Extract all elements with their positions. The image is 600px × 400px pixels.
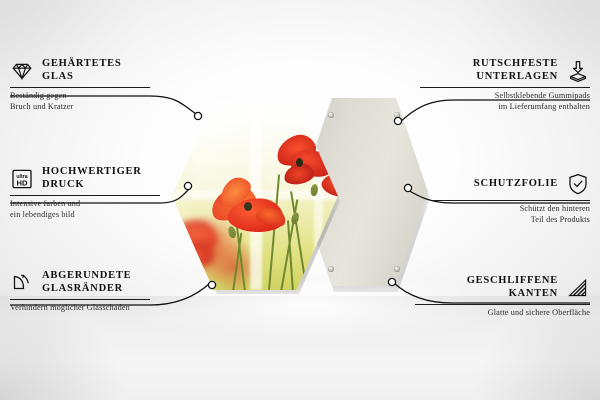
press-down-pad-icon	[566, 59, 590, 83]
rounded-corner-icon	[10, 271, 34, 295]
feature-subtitle: Beständig gegen Bruch und Kratzer	[10, 91, 170, 112]
svg-text:HD: HD	[17, 178, 28, 187]
feature-protective-film[interactable]: SCHUTZFOLIE Schützt den hinteren Teil de…	[410, 172, 590, 225]
feature-title: GESCHLIFFENE KANTEN	[467, 275, 558, 300]
feature-rule	[10, 87, 150, 88]
feature-rounded-glass-edges[interactable]: ABGERUNDETE GLASRÄNDER Verhindern möglic…	[10, 270, 185, 314]
feature-rule	[420, 87, 590, 88]
hatched-triangle-icon	[566, 276, 590, 300]
feature-title: ABGERUNDETE GLASRÄNDER	[42, 270, 131, 295]
feature-title: SCHUTZFOLIE	[474, 178, 558, 191]
feature-rule	[415, 304, 590, 305]
feature-header: GEHÄRTETES GLAS	[10, 58, 170, 83]
feature-header: ABGERUNDETE GLASRÄNDER	[10, 270, 185, 295]
feature-rule	[430, 200, 590, 201]
feature-title: GEHÄRTETES GLAS	[42, 58, 122, 83]
feature-header: SCHUTZFOLIE	[410, 172, 590, 196]
feature-rule	[10, 299, 150, 300]
shield-check-icon	[566, 172, 590, 196]
screw-hole	[394, 112, 400, 118]
feature-title: HOCHWERTIGER DRUCK	[42, 166, 142, 191]
product-infographic: GEHÄRTETES GLAS Beständig gegen Bruch un…	[0, 0, 600, 400]
feature-high-quality-print[interactable]: ultra HD HOCHWERTIGER DRUCK Intensive fa…	[10, 166, 180, 220]
feature-header: ultra HD HOCHWERTIGER DRUCK	[10, 166, 180, 191]
feature-tempered-glass[interactable]: GEHÄRTETES GLAS Beständig gegen Bruch un…	[10, 58, 170, 112]
connector-dot-tempered-glass	[194, 112, 201, 119]
screw-hole	[328, 266, 334, 272]
screw-hole	[394, 266, 400, 272]
feature-header: RUTSCHFESTE UNTERLAGEN	[400, 58, 590, 83]
feature-subtitle: Glatte und sichere Oberfläche	[395, 308, 590, 319]
ultra-hd-icon: ultra HD	[10, 167, 34, 191]
feature-non-slip-pads[interactable]: RUTSCHFESTE UNTERLAGEN Selbstklebende Gu…	[400, 58, 590, 112]
feature-ground-edges[interactable]: GESCHLIFFENE KANTEN Glatte und sichere	[395, 275, 590, 319]
screw-hole	[328, 112, 334, 118]
feature-subtitle: Schützt den hinteren Teil des Produkts	[410, 204, 590, 225]
feature-subtitle: Intensive farben und ein lebendiges bild	[10, 199, 180, 220]
diamond-icon	[10, 59, 34, 83]
feature-subtitle: Selbstklebende Gummipads im Lieferumfang…	[400, 91, 590, 112]
feature-rule	[10, 195, 160, 196]
feature-title: RUTSCHFESTE UNTERLAGEN	[473, 58, 558, 83]
feature-header: GESCHLIFFENE KANTEN	[395, 275, 590, 300]
feature-subtitle: Verhindern möglicher Glasschäden	[10, 303, 185, 314]
